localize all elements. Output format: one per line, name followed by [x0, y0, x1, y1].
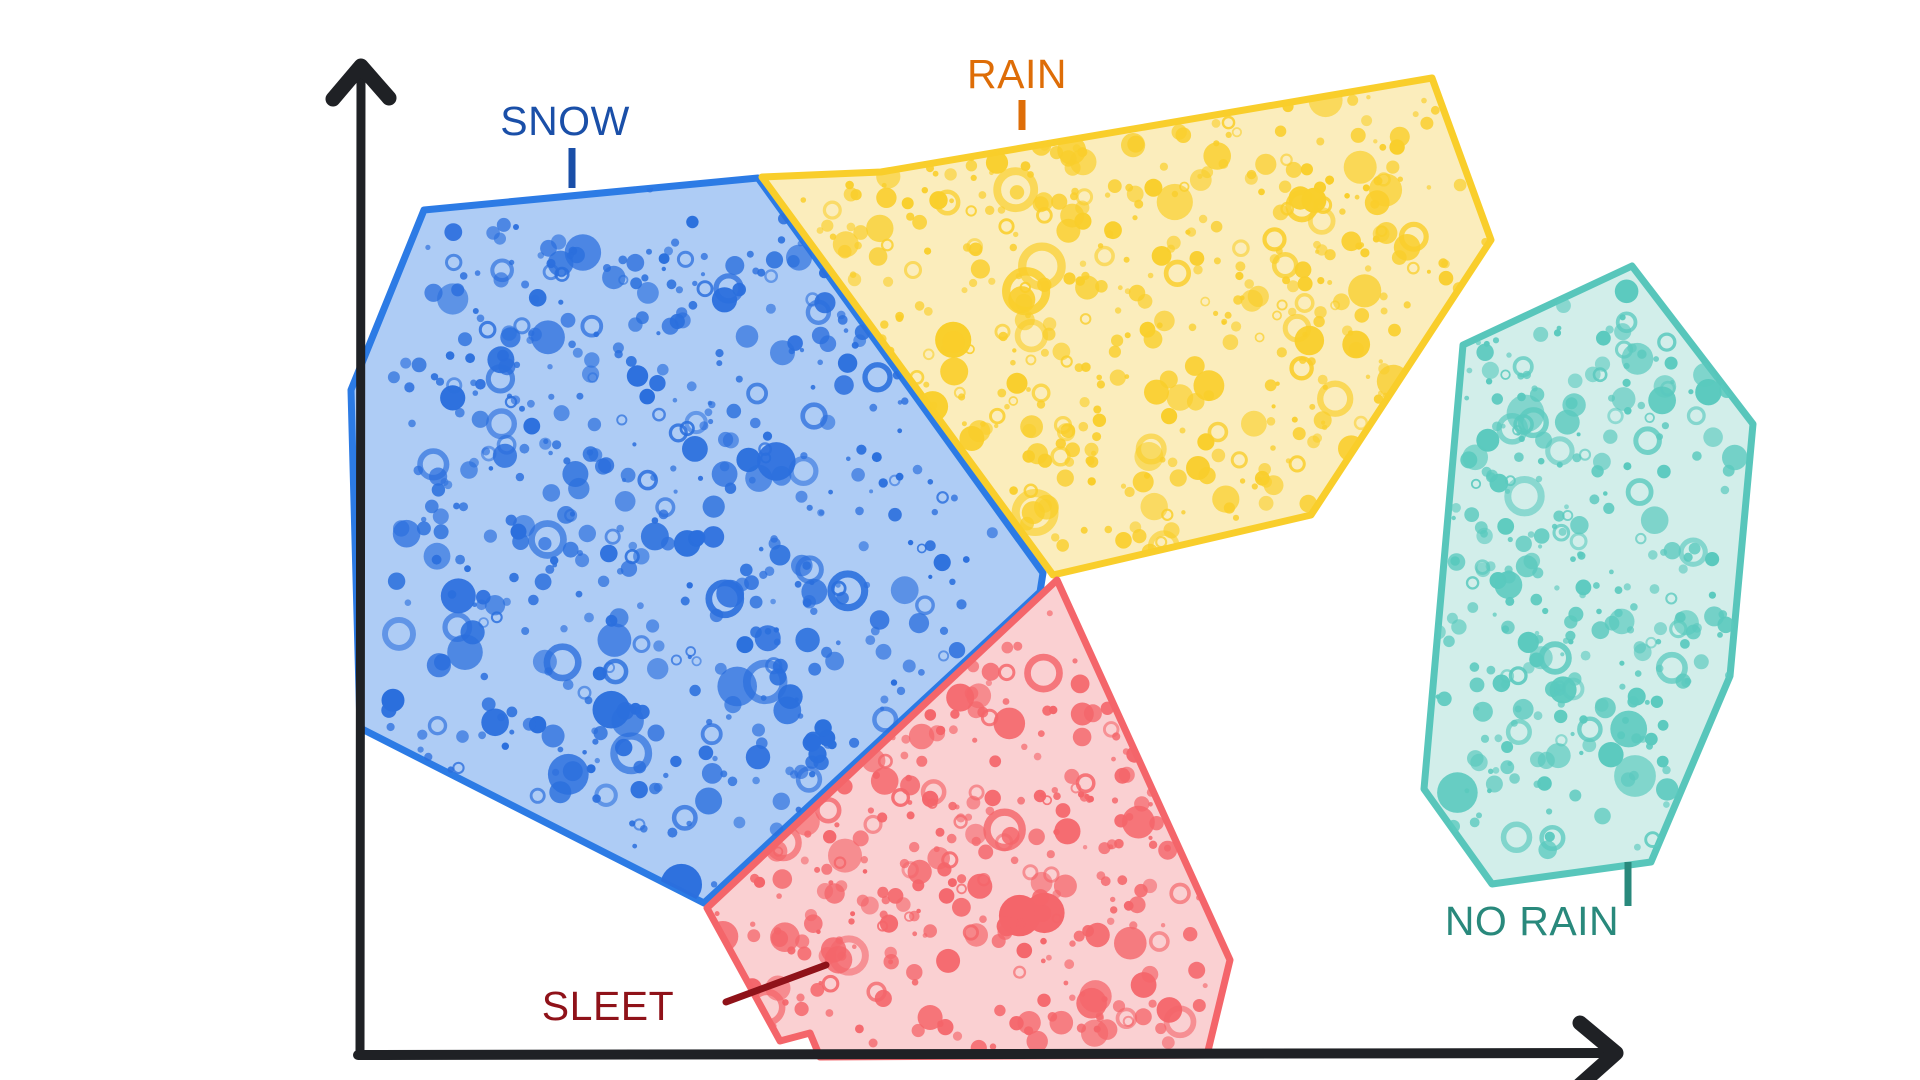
data-point	[896, 897, 911, 912]
data-point	[1645, 700, 1650, 705]
data-point	[1022, 450, 1035, 463]
data-point	[1487, 666, 1496, 675]
data-point	[1127, 136, 1144, 153]
data-point	[1125, 184, 1133, 192]
data-point	[901, 735, 910, 744]
data-point	[907, 811, 915, 819]
data-point	[1051, 533, 1059, 541]
data-point	[897, 428, 902, 433]
data-point	[932, 509, 938, 515]
data-point	[1141, 493, 1168, 520]
data-point	[1493, 613, 1497, 617]
data-point	[1093, 406, 1101, 414]
data-point	[1052, 787, 1058, 793]
data-point	[1199, 467, 1216, 484]
data-point	[465, 353, 475, 363]
data-point	[924, 307, 933, 316]
data-point	[1081, 362, 1091, 372]
data-point	[936, 828, 945, 837]
data-point	[934, 846, 940, 852]
data-point	[606, 615, 618, 627]
data-point	[1623, 462, 1631, 470]
data-point	[561, 313, 576, 328]
data-point	[507, 707, 518, 718]
data-point	[848, 273, 861, 286]
data-point	[1013, 642, 1022, 651]
data-point	[1505, 566, 1513, 574]
data-point	[978, 845, 993, 860]
data-point	[523, 418, 540, 435]
data-point	[1608, 395, 1615, 402]
data-point	[1689, 543, 1701, 555]
data-point	[1612, 387, 1636, 411]
data-point	[1204, 390, 1215, 401]
data-point	[1570, 516, 1588, 534]
data-point	[551, 234, 566, 249]
data-point	[918, 669, 925, 676]
data-point	[838, 354, 857, 373]
data-point	[576, 591, 583, 598]
data-point	[1660, 549, 1667, 556]
data-point	[1646, 743, 1653, 750]
data-point	[1476, 812, 1482, 818]
data-point	[1162, 1036, 1175, 1049]
data-point	[891, 576, 919, 604]
data-point	[1437, 772, 1478, 813]
data-point	[1722, 445, 1747, 470]
data-point	[513, 224, 519, 230]
data-point	[1125, 487, 1135, 497]
data-point	[1538, 544, 1542, 548]
data-point	[813, 755, 828, 770]
data-point	[1160, 457, 1166, 463]
data-point	[1692, 451, 1702, 461]
data-point	[909, 613, 929, 633]
data-point	[1325, 249, 1336, 260]
data-point	[905, 775, 912, 782]
data-point	[1097, 380, 1105, 388]
data-point	[1637, 350, 1646, 359]
data-point	[949, 198, 954, 203]
data-point	[947, 834, 957, 844]
data-point	[617, 702, 635, 720]
data-point	[387, 723, 395, 731]
data-point	[1492, 422, 1502, 432]
data-point	[1578, 552, 1586, 560]
data-point	[1390, 127, 1410, 147]
data-point	[1276, 248, 1283, 255]
data-point	[1529, 653, 1544, 668]
data-point	[856, 445, 866, 455]
data-point	[1021, 161, 1031, 171]
data-point	[847, 223, 856, 232]
data-point	[1240, 478, 1245, 483]
data-point	[941, 344, 950, 353]
y-axis	[360, 75, 361, 1053]
data-point	[448, 766, 454, 772]
data-point	[1083, 845, 1087, 849]
data-point	[1053, 343, 1071, 361]
data-point	[1298, 276, 1313, 291]
data-point	[458, 332, 472, 346]
data-point	[998, 925, 1013, 940]
data-point	[740, 564, 753, 577]
data-point	[1622, 717, 1629, 724]
data-point	[1180, 428, 1186, 434]
data-point	[664, 247, 673, 256]
data-point	[670, 314, 685, 329]
data-point	[803, 598, 812, 607]
data-point	[542, 725, 565, 748]
data-point	[1624, 583, 1631, 590]
data-point	[1524, 553, 1541, 570]
data-point	[1341, 232, 1361, 252]
data-point	[703, 526, 725, 548]
data-point	[1420, 117, 1433, 130]
data-point	[1057, 470, 1074, 487]
data-point	[1080, 793, 1089, 802]
data-point	[897, 687, 905, 695]
data-point	[1064, 959, 1074, 969]
data-point	[509, 573, 519, 583]
cluster-label-text: SNOW	[500, 98, 630, 144]
data-point	[1452, 516, 1456, 520]
data-point	[1624, 363, 1630, 369]
data-point	[778, 684, 803, 709]
data-point	[1077, 1024, 1086, 1033]
cluster-no-rain[interactable]	[1424, 266, 1753, 884]
data-point	[1511, 720, 1518, 727]
data-point	[687, 381, 697, 391]
data-point	[1557, 326, 1562, 331]
data-point	[1501, 424, 1506, 429]
data-point	[804, 831, 811, 838]
data-point	[501, 325, 516, 340]
data-point	[1656, 639, 1662, 645]
data-point	[864, 582, 871, 589]
data-point	[1241, 290, 1263, 312]
data-point	[901, 397, 908, 404]
data-point	[1085, 443, 1099, 457]
data-point	[795, 628, 819, 652]
data-point	[1021, 744, 1027, 750]
data-point	[1012, 348, 1016, 352]
data-point	[637, 602, 644, 609]
data-point	[598, 623, 632, 657]
data-point	[796, 491, 808, 503]
data-point	[1046, 955, 1052, 961]
data-point	[1322, 425, 1327, 430]
data-point	[1603, 503, 1614, 514]
data-point	[1680, 639, 1690, 649]
cluster-label-text: NO RAIN	[1445, 898, 1619, 944]
data-point	[850, 911, 855, 916]
data-point	[473, 390, 479, 396]
data-point	[1079, 422, 1089, 432]
data-point	[1589, 494, 1599, 504]
data-point	[1431, 106, 1440, 115]
data-point	[1041, 349, 1049, 357]
data-point	[1609, 570, 1614, 575]
data-point	[405, 599, 412, 606]
data-point	[828, 490, 833, 495]
data-point	[1161, 923, 1165, 927]
data-point	[1221, 319, 1227, 325]
data-point	[676, 286, 683, 293]
data-point	[629, 820, 635, 826]
data-point	[649, 783, 661, 795]
data-point	[1063, 272, 1075, 284]
data-point	[382, 689, 405, 712]
data-point	[1559, 528, 1567, 536]
data-point	[1065, 442, 1080, 457]
data-point	[986, 680, 992, 686]
data-point	[814, 719, 831, 736]
data-point	[1309, 83, 1343, 117]
data-point	[1379, 144, 1386, 151]
data-point	[948, 802, 957, 811]
data-point	[427, 653, 451, 677]
data-point	[747, 251, 754, 258]
data-point	[863, 869, 868, 874]
data-point	[969, 279, 977, 287]
data-point	[509, 730, 514, 735]
data-point	[549, 781, 571, 803]
data-point	[440, 385, 465, 410]
data-point	[763, 432, 772, 441]
data-point	[1190, 251, 1205, 266]
data-point	[663, 773, 668, 778]
data-point	[837, 311, 846, 320]
data-point	[789, 348, 795, 354]
data-point	[940, 627, 948, 635]
data-point	[633, 548, 649, 564]
data-point	[552, 440, 561, 449]
data-point	[1087, 456, 1099, 468]
data-point	[720, 770, 727, 777]
data-point	[1546, 808, 1552, 814]
data-point	[1301, 163, 1313, 175]
data-point	[750, 418, 761, 429]
data-point	[998, 206, 1006, 214]
data-point	[888, 508, 902, 522]
data-point	[834, 822, 839, 827]
data-point	[649, 375, 665, 391]
data-point	[1658, 720, 1669, 731]
data-point	[716, 360, 722, 366]
data-point	[1694, 654, 1709, 669]
data-point	[552, 563, 557, 568]
data-point	[1224, 502, 1235, 513]
data-point	[1467, 602, 1478, 613]
data-point	[1373, 139, 1377, 143]
data-point	[795, 581, 802, 588]
data-point	[1096, 375, 1102, 381]
data-point	[547, 364, 552, 369]
data-point	[473, 308, 479, 314]
data-point	[1470, 678, 1485, 693]
data-point	[924, 248, 931, 255]
data-point	[1481, 735, 1489, 743]
data-point	[834, 375, 854, 395]
data-point	[1366, 375, 1370, 379]
data-point	[444, 223, 462, 241]
data-point	[939, 888, 955, 904]
data-point	[579, 525, 596, 542]
data-point	[1111, 335, 1123, 347]
data-point	[814, 867, 820, 873]
data-point	[836, 880, 848, 892]
data-point	[1358, 242, 1364, 248]
data-point	[1098, 243, 1103, 248]
data-point	[507, 394, 512, 399]
data-point	[451, 283, 464, 296]
data-point	[866, 215, 893, 242]
data-point	[1252, 483, 1258, 489]
data-point	[1497, 518, 1514, 535]
data-point	[795, 1002, 809, 1016]
data-point	[773, 793, 790, 810]
data-point	[1286, 162, 1302, 178]
data-point	[1105, 192, 1110, 197]
data-point	[388, 573, 405, 590]
data-point	[1688, 389, 1693, 394]
data-point	[1486, 776, 1503, 793]
data-point	[646, 619, 659, 632]
data-point	[1135, 1008, 1152, 1025]
data-point	[1386, 161, 1399, 174]
data-point	[1117, 875, 1127, 885]
data-point	[509, 260, 514, 265]
data-point	[529, 289, 547, 307]
data-point	[953, 1032, 962, 1041]
data-point	[936, 949, 960, 973]
cluster-label-rain[interactable]: RAIN	[967, 51, 1067, 130]
data-point	[1009, 486, 1018, 495]
data-point	[1451, 503, 1461, 513]
data-point	[1665, 357, 1678, 370]
data-point	[845, 181, 854, 190]
data-point	[1545, 832, 1555, 842]
data-point	[1097, 1019, 1118, 1040]
data-point	[1534, 711, 1543, 720]
data-point	[787, 255, 800, 268]
data-point	[1069, 995, 1075, 1001]
data-point	[1492, 393, 1503, 404]
data-point	[1272, 404, 1276, 408]
data-point	[1148, 802, 1153, 807]
data-point	[1295, 326, 1325, 356]
data-point	[715, 911, 720, 916]
data-point	[849, 738, 859, 748]
data-point	[475, 379, 486, 390]
data-point	[966, 160, 977, 171]
data-point	[869, 404, 877, 412]
data-point	[1641, 506, 1669, 534]
data-point	[871, 627, 880, 636]
data-point	[985, 206, 994, 215]
data-point	[1576, 580, 1592, 596]
data-point	[888, 959, 893, 964]
data-point	[902, 197, 914, 209]
cluster-label-snow[interactable]: SNOW	[500, 98, 630, 188]
data-point	[1148, 273, 1154, 279]
data-point	[1132, 215, 1137, 220]
data-point	[563, 542, 579, 558]
data-point	[1623, 379, 1631, 387]
data-point	[670, 465, 676, 471]
data-point	[1258, 189, 1265, 196]
data-point	[986, 152, 1008, 174]
data-point	[1038, 730, 1045, 737]
data-point	[1351, 128, 1366, 143]
data-point	[519, 406, 525, 412]
data-point	[1327, 280, 1332, 285]
data-point	[1615, 586, 1623, 594]
data-point	[798, 241, 804, 247]
data-point	[1277, 347, 1287, 357]
data-point	[744, 575, 759, 590]
data-point	[989, 755, 1001, 767]
data-point	[852, 342, 859, 349]
data-point	[1427, 270, 1431, 274]
data-point	[1101, 702, 1114, 715]
data-point	[1379, 359, 1383, 363]
data-point	[475, 270, 481, 276]
data-point	[1515, 706, 1522, 713]
data-point	[929, 725, 945, 741]
data-point	[523, 718, 536, 731]
data-point	[1465, 788, 1470, 793]
data-point	[1022, 424, 1036, 438]
data-point	[959, 426, 984, 451]
data-point	[923, 924, 937, 938]
data-point	[817, 227, 824, 234]
data-point	[464, 565, 471, 572]
data-point	[1075, 201, 1089, 215]
data-point	[417, 730, 427, 740]
data-point	[1528, 531, 1535, 538]
data-point	[810, 608, 817, 615]
data-point	[1069, 940, 1075, 946]
data-point	[1015, 294, 1032, 311]
data-point	[481, 673, 489, 681]
data-point	[1571, 732, 1575, 736]
data-point	[393, 520, 421, 548]
data-point	[1443, 636, 1455, 648]
data-point	[1160, 163, 1168, 171]
data-point	[1161, 408, 1177, 424]
data-point	[908, 540, 913, 545]
data-point	[868, 807, 874, 813]
data-point	[836, 583, 841, 588]
data-point	[1686, 625, 1701, 640]
data-point	[750, 874, 759, 883]
data-point	[1122, 806, 1155, 839]
data-point	[1193, 265, 1202, 274]
data-point	[459, 502, 468, 511]
data-point	[478, 731, 486, 739]
data-point	[1634, 641, 1646, 653]
data-point	[1475, 521, 1488, 534]
data-point	[1125, 332, 1131, 338]
data-point	[689, 685, 700, 696]
data-point	[756, 737, 768, 749]
data-point	[705, 408, 713, 416]
data-point	[1493, 767, 1500, 774]
data-point	[595, 758, 600, 763]
data-point	[726, 714, 732, 720]
